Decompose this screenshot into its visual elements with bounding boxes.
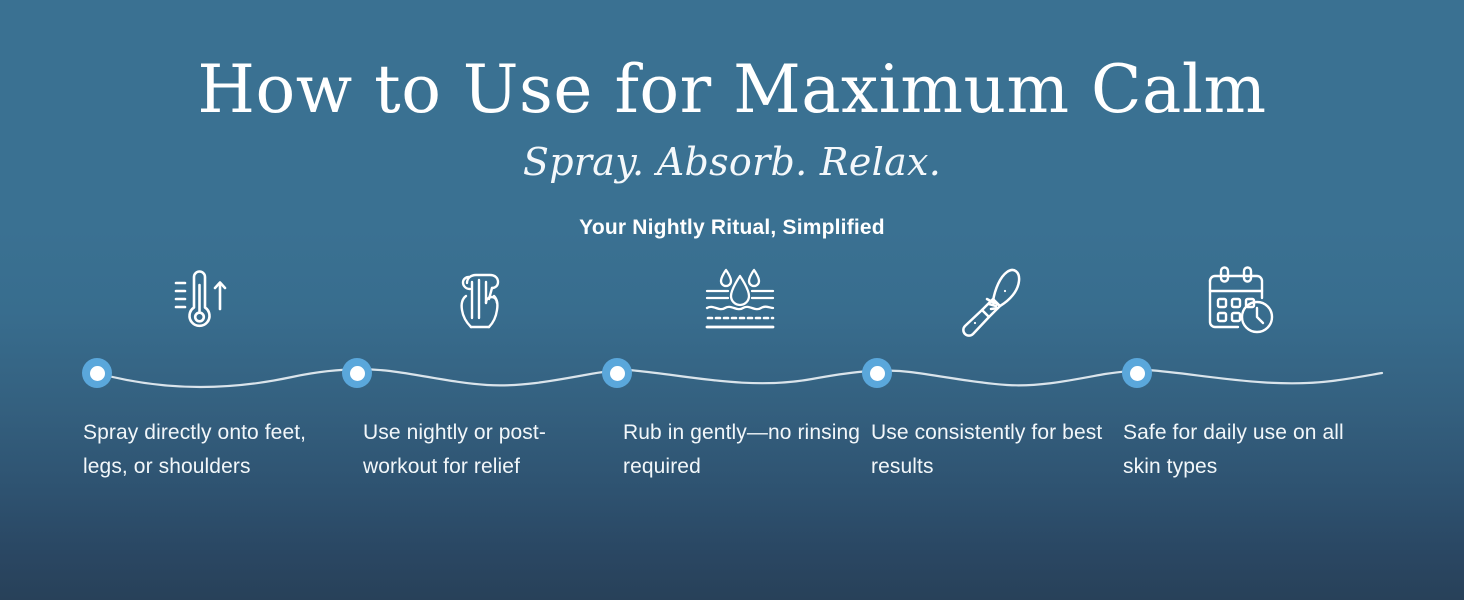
absorb-droplets-skin-icon [610,262,870,340]
page-title: How to Use for Maximum Calm [0,52,1464,128]
steps-row: Spray directly onto feet, legs, or shoul… [0,262,1464,552]
step-2: Use nightly or post-workout for relief [350,262,610,552]
step-5: Safe for daily use on all skin types [1110,262,1370,552]
hand-rub-icon [350,262,610,340]
kicker-subtitle: Your Nightly Ritual, Simplified [0,214,1464,242]
step-1: Spray directly onto feet, legs, or shoul… [70,262,330,552]
header-block: How to Use for Maximum Calm Spray. Absor… [0,52,1464,242]
step-5-caption: Safe for daily use on all skin types [1123,416,1363,484]
step-4: Use consistently for best results [858,262,1118,552]
tagline: Spray. Absorb. Relax. [0,138,1464,186]
how-to-use-banner: How to Use for Maximum Calm Spray. Absor… [0,0,1464,600]
step-1-caption: Spray directly onto feet, legs, or shoul… [83,416,323,484]
thermometer-up-icon [70,262,330,340]
step-3: Rub in gently—no rinsing required [610,262,870,552]
step-4-caption: Use consistently for best results [871,416,1111,484]
brush-icon [858,262,1118,340]
calendar-clock-icon [1110,262,1370,340]
step-2-caption: Use nightly or post-workout for relief [363,416,603,484]
step-3-caption: Rub in gently—no rinsing required [623,416,863,484]
